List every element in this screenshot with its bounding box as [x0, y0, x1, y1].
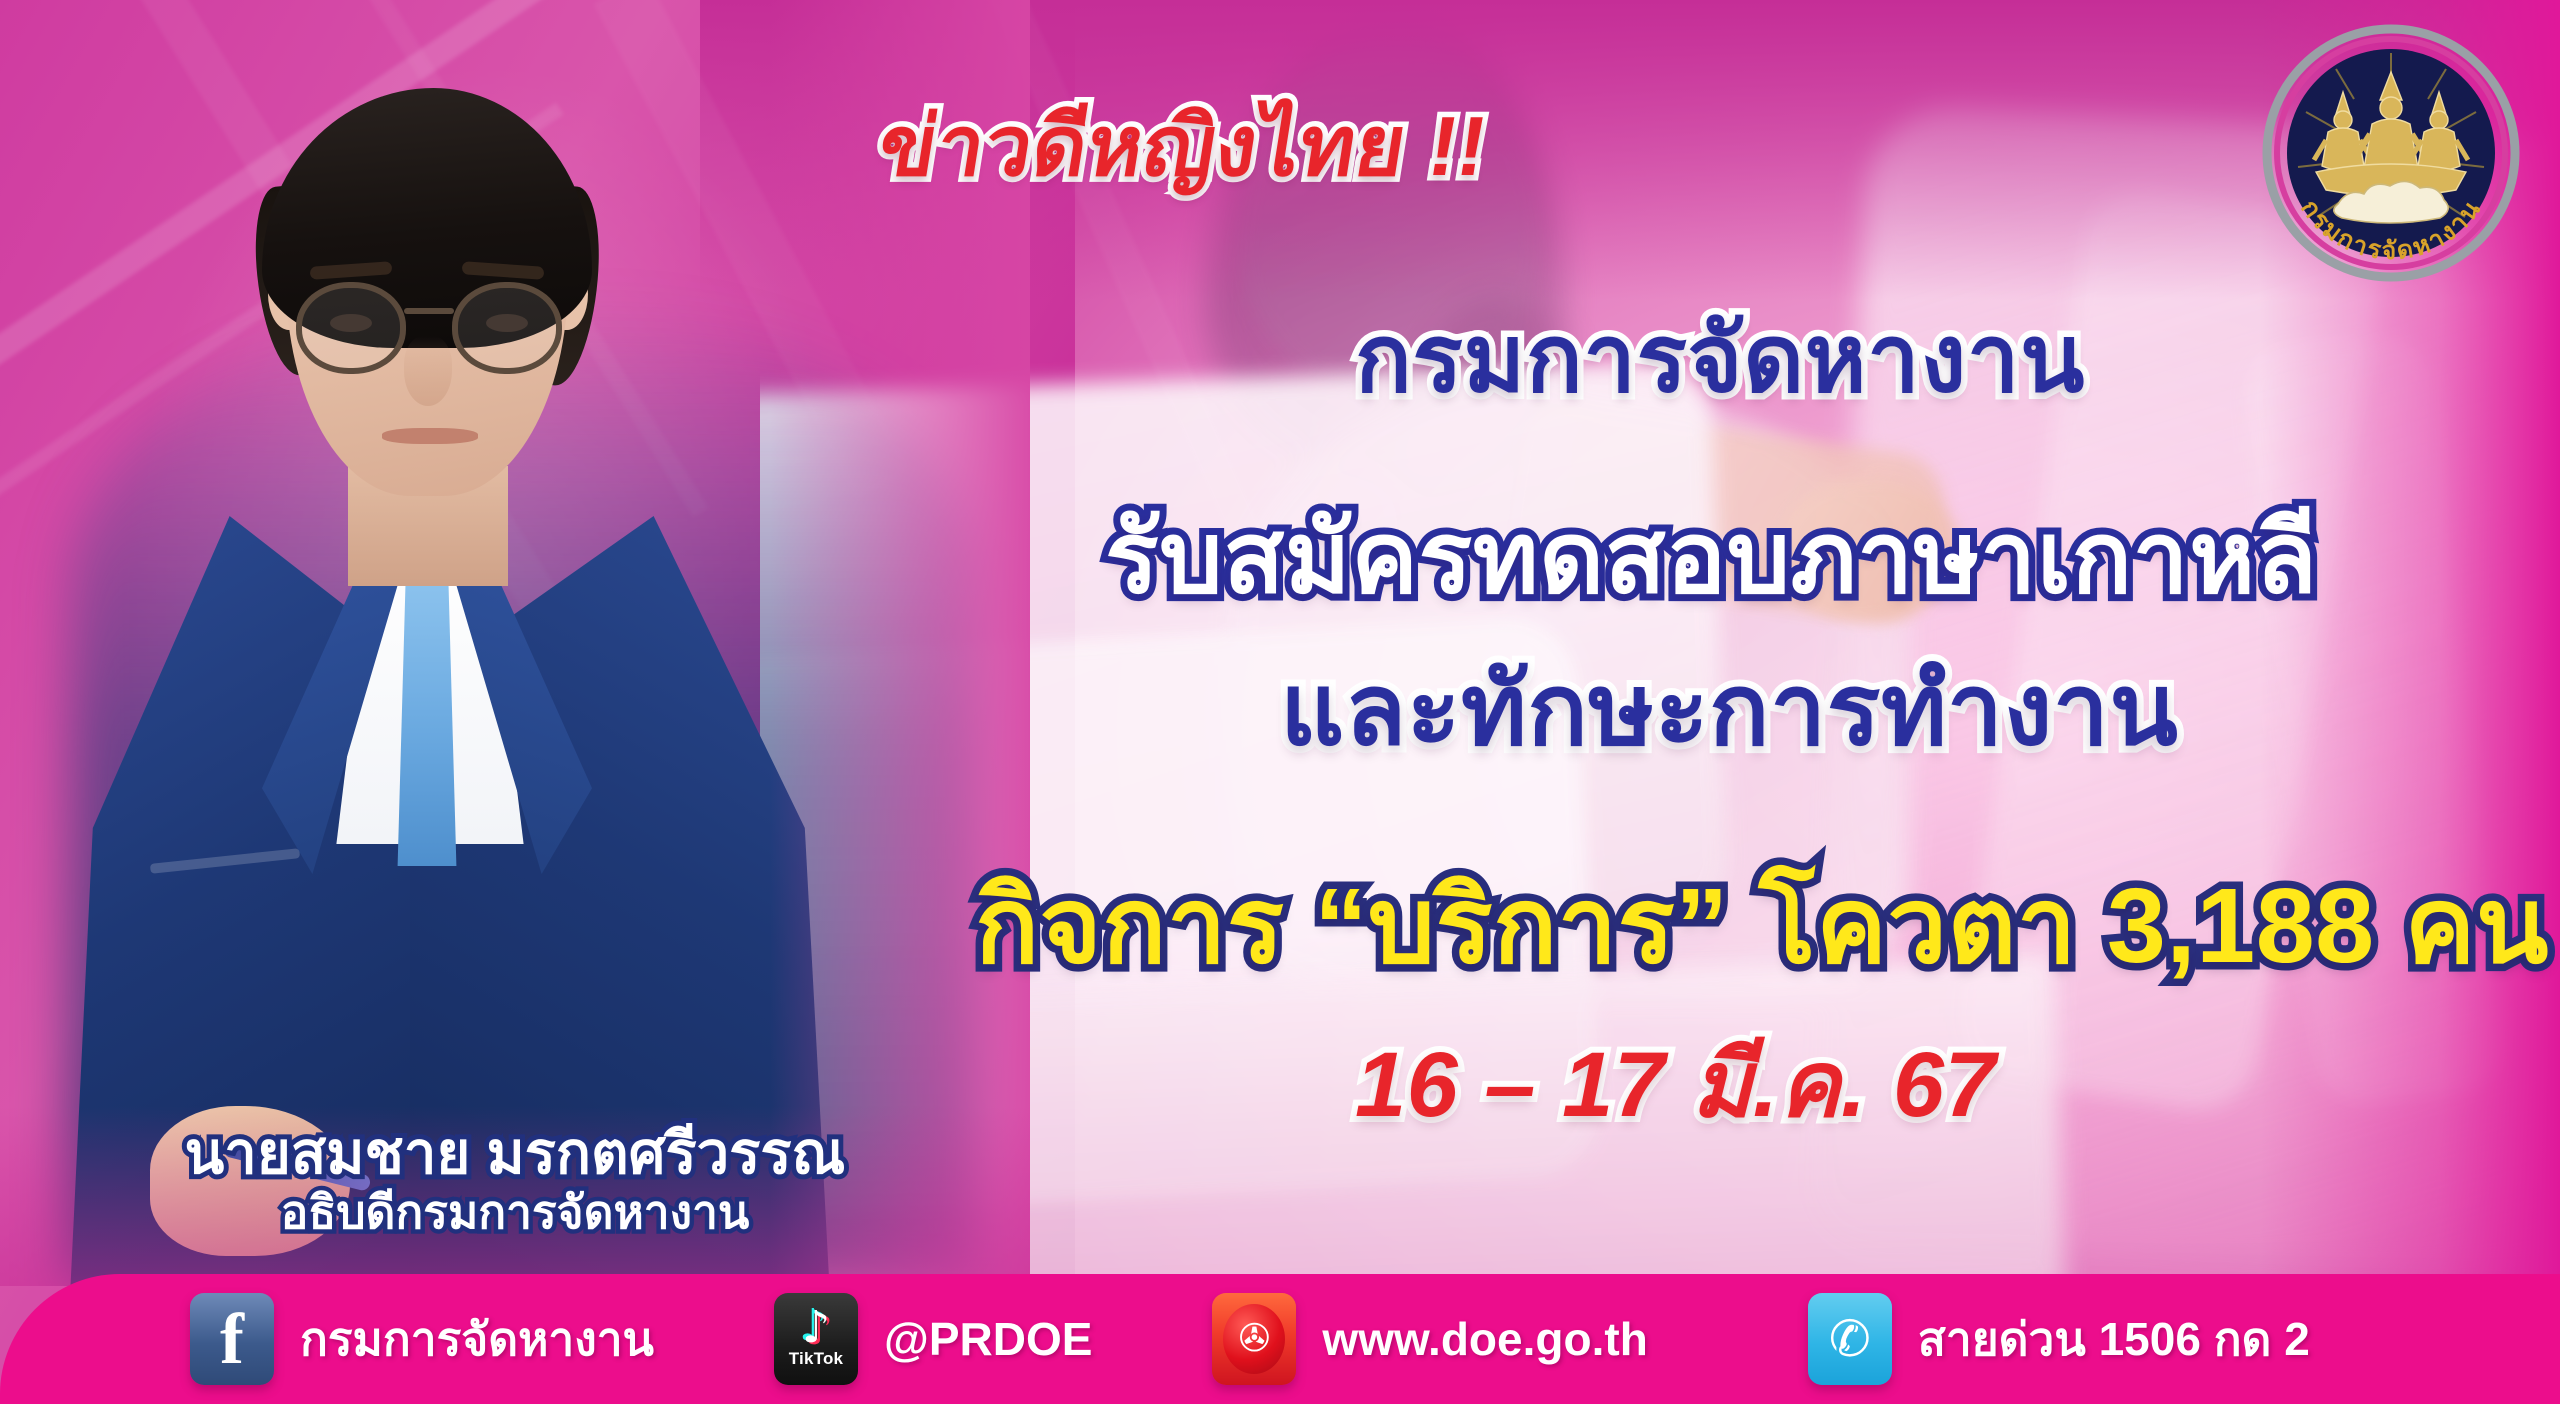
promo-poster: กรมการจัดหางาน ข่าวดีหญิงไทย !! กรมการจั…: [0, 0, 2560, 1404]
footer-facebook[interactable]: f กรมการจัดหางาน: [190, 1293, 654, 1385]
tiktok-brand: TikTok: [789, 1349, 843, 1369]
footer-website[interactable]: ✇ www.doe.go.th: [1212, 1293, 1647, 1385]
contact-footer: f กรมการจัดหางาน ♪ TikTok @PRDOE ✇ www.d…: [0, 1274, 2560, 1404]
facebook-label: กรมการจัดหางาน: [300, 1303, 654, 1376]
phone-glyph: ✆: [1829, 1314, 1871, 1364]
eyeglasses-bridge: [404, 308, 454, 314]
tiktok-label: @PRDOE: [884, 1312, 1092, 1366]
footer-tiktok[interactable]: ♪ TikTok @PRDOE: [774, 1293, 1092, 1385]
subtitle-line-1: รับสมัครทดสอบภาษาเกาหลี: [1105, 478, 2317, 637]
tiktok-icon[interactable]: ♪ TikTok: [774, 1293, 858, 1385]
facebook-glyph: f: [190, 1303, 274, 1375]
tiktok-note-glyph: ♪: [802, 1309, 830, 1346]
facebook-icon[interactable]: f: [190, 1293, 274, 1385]
doe-emblem: กรมการจัดหางาน: [2260, 22, 2522, 284]
headline-text: ข่าวดีหญิงไทย !!: [869, 78, 1497, 212]
eyeglasses-icon: [296, 282, 406, 374]
director-name: นายสมชาย มรกตศรีวรรณ: [0, 1124, 1030, 1183]
quota-text: กิจการ “บริการ” โควตา 3,188 คน: [975, 840, 2549, 1009]
portrait-nose: [404, 336, 452, 406]
portrait-mouth: [382, 428, 478, 444]
director-role: อธิบดีกรมการจัดหางาน: [0, 1187, 1030, 1238]
director-caption: นายสมชาย มรกตศรีวรรณ อธิบดีกรมการจัดหางา…: [0, 1124, 1030, 1238]
date-text: 16 – 17 มี.ค. 67: [1355, 1010, 1996, 1157]
footer-hotline[interactable]: ✆ สายด่วน 1506 กด 2: [1808, 1293, 2310, 1385]
department-title: กรมการจัดหางาน: [1355, 284, 2085, 433]
globe-glyph: ✇: [1239, 1320, 1271, 1358]
subtitle-line-2: และทักษะการทำงาน: [1280, 630, 2178, 789]
hotline-label: สายด่วน 1506 กด 2: [1918, 1303, 2310, 1376]
globe-icon[interactable]: ✇: [1212, 1293, 1296, 1385]
globe-ball: ✇: [1223, 1304, 1285, 1374]
website-label: www.doe.go.th: [1322, 1312, 1647, 1366]
phone-icon[interactable]: ✆: [1808, 1293, 1892, 1385]
eyeglasses-icon: [452, 282, 562, 374]
